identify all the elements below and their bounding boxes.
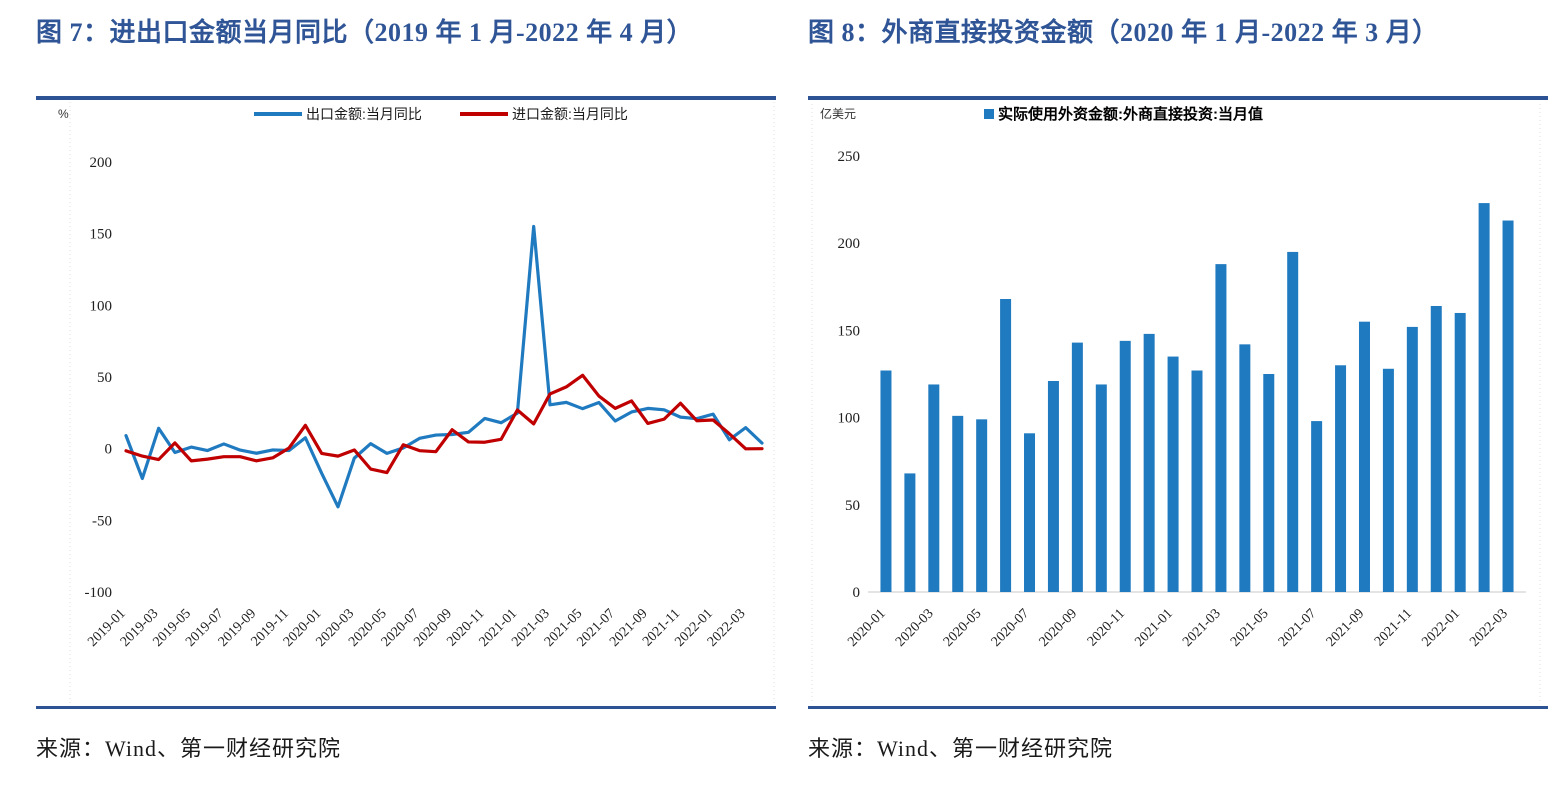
legend-label-export: 出口金额:当月同比	[306, 106, 422, 122]
x-tick-label: 2021-03	[1180, 606, 1224, 650]
x-tick-label: 2020-03	[893, 606, 937, 650]
figure-7-title: 图 7：进出口金额当月同比（2019 年 1 月-2022 年 4 月）	[36, 0, 776, 96]
y-tick-label: 100	[90, 298, 113, 314]
y-tick-label: 50	[97, 370, 112, 386]
y-tick-label: 100	[838, 411, 861, 427]
y-tick-label: 0	[105, 442, 113, 458]
figure-8-title: 图 8：外商直接投资金额（2020 年 1 月-2022 年 3 月）	[808, 0, 1548, 96]
bar	[1072, 343, 1083, 592]
figure-8-chart-area: 亿美元实际使用外资金额:外商直接投资:当月值050100150200250202…	[808, 100, 1548, 704]
legend-label-import: 进口金额:当月同比	[512, 106, 628, 122]
y-axis-unit-label: 亿美元	[820, 106, 856, 121]
bar	[1455, 313, 1466, 592]
bar	[1407, 327, 1418, 592]
bar	[1215, 264, 1226, 592]
legend-swatch-fdi	[984, 109, 994, 119]
bar	[1192, 371, 1203, 592]
figure-7-chart-area: %出口金额:当月同比进口金额:当月同比-100-5005010015020020…	[36, 100, 776, 704]
x-tick-label: 2021-05	[1228, 606, 1272, 650]
bar	[1263, 374, 1274, 592]
figure-7-line-chart: %出口金额:当月同比进口金额:当月同比-100-5005010015020020…	[36, 100, 776, 704]
bar	[1479, 203, 1490, 592]
x-tick-label: 2021-11	[1372, 606, 1415, 649]
bar	[1503, 221, 1514, 592]
bar	[928, 384, 939, 592]
bar	[1431, 306, 1442, 592]
bar	[1144, 334, 1155, 592]
bar	[1335, 365, 1346, 592]
x-tick-label: 2021-07	[1276, 606, 1320, 650]
x-tick-label: 2020-05	[941, 606, 985, 650]
legend-label-fdi: 实际使用外资金额:外商直接投资:当月值	[998, 105, 1263, 123]
bar	[1311, 421, 1322, 592]
figure-8-source: 来源：Wind、第一财经研究院	[808, 709, 1548, 763]
figure-7-source: 来源：Wind、第一财经研究院	[36, 709, 776, 763]
y-tick-label: 200	[838, 236, 861, 252]
bar	[1287, 252, 1298, 592]
bar	[1048, 381, 1059, 592]
bar	[1120, 341, 1131, 592]
y-tick-label: -100	[85, 585, 113, 601]
figure-7-panel: 图 7：进出口金额当月同比（2019 年 1 月-2022 年 4 月） %出口…	[36, 0, 776, 794]
figure-8-panel: 图 8：外商直接投资金额（2020 年 1 月-2022 年 3 月） 亿美元实…	[808, 0, 1548, 794]
x-tick-label: 2020-07	[989, 606, 1033, 650]
y-tick-label: 50	[845, 498, 860, 514]
bar	[1024, 433, 1035, 592]
bar	[1096, 384, 1107, 592]
page-root: 图 7：进出口金额当月同比（2019 年 1 月-2022 年 4 月） %出口…	[0, 0, 1568, 794]
y-tick-label: 250	[838, 149, 861, 165]
series-line-import	[126, 375, 762, 472]
x-tick-label: 2021-09	[1324, 606, 1368, 650]
x-tick-label: 2020-11	[1085, 606, 1128, 649]
bar	[952, 416, 963, 592]
y-tick-label: -50	[92, 513, 112, 529]
y-tick-label: 0	[853, 585, 861, 601]
series-line-export	[126, 227, 762, 507]
x-tick-label: 2020-09	[1037, 606, 1081, 650]
bar	[1383, 369, 1394, 592]
figure-8-bar-chart: 亿美元实际使用外资金额:外商直接投资:当月值050100150200250202…	[808, 100, 1548, 704]
bar	[880, 371, 891, 592]
chart-legend: 出口金额:当月同比进口金额:当月同比	[254, 106, 628, 122]
bar	[904, 473, 915, 592]
bar	[976, 419, 987, 592]
chart-legend: 实际使用外资金额:外商直接投资:当月值	[984, 105, 1263, 123]
bar	[1000, 299, 1011, 592]
y-tick-label: 200	[90, 155, 113, 171]
y-axis-unit-label: %	[58, 107, 69, 121]
bar	[1359, 322, 1370, 592]
y-tick-label: 150	[90, 227, 113, 243]
x-tick-label: 2021-01	[1132, 606, 1176, 650]
bar	[1168, 357, 1179, 592]
x-tick-label: 2020-01	[845, 606, 889, 650]
y-tick-label: 150	[838, 323, 861, 339]
x-tick-label: 2022-03	[1467, 606, 1511, 650]
bar	[1239, 344, 1250, 592]
x-tick-label: 2022-01	[1419, 606, 1463, 650]
